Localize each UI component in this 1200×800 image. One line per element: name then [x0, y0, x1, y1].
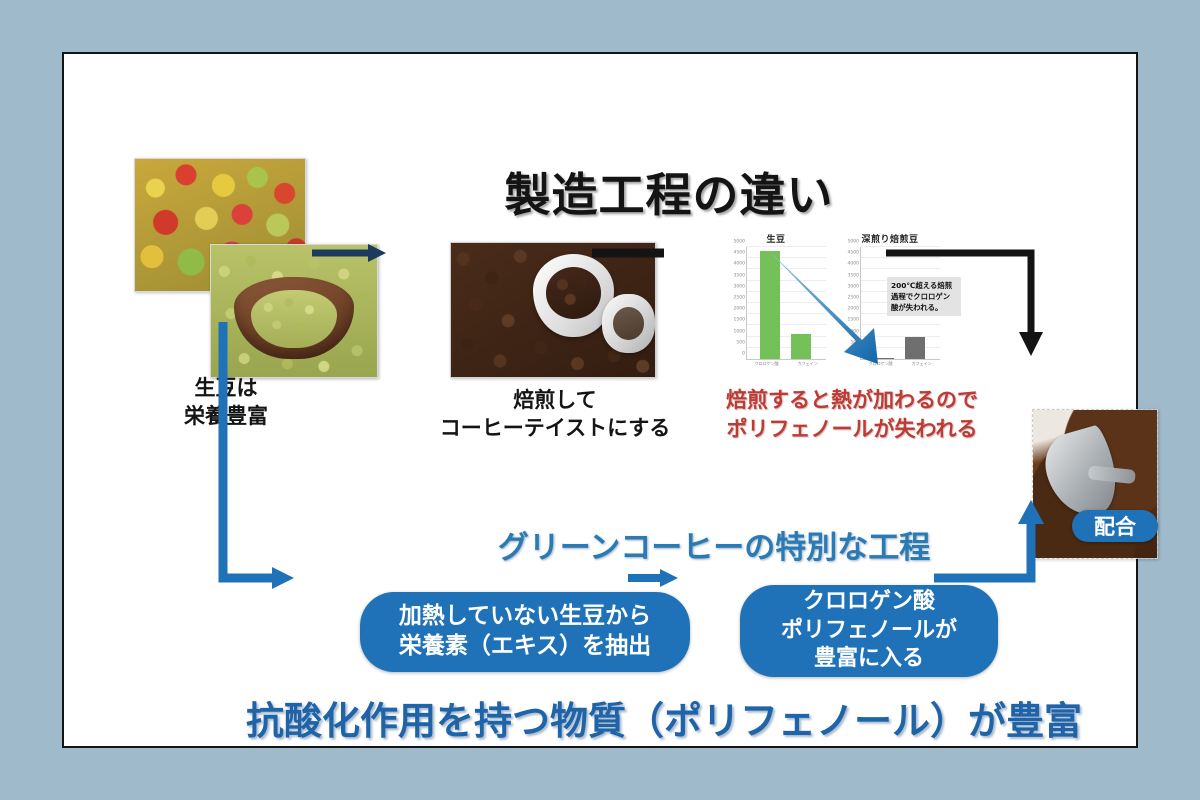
bar-caffeine — [905, 337, 925, 359]
caption-green-beans: 生豆は 栄養豊富 — [136, 374, 316, 431]
chart-green-beans: 生豆 5000 4500 4000 3500 3000 — [724, 232, 828, 380]
ytick: 0 — [856, 352, 859, 357]
subheading-special-process: グリーンコーヒーの特別な工程 — [404, 522, 1024, 567]
chart-legend-note: コーヒー豆100g当たりの含有量 — [885, 250, 934, 254]
bar-chlorogenic-acid — [874, 358, 894, 359]
slide-frame: 製造工程の違い 配合 生豆 — [62, 52, 1138, 748]
blend-badge: 配合 — [1072, 510, 1158, 542]
ytick: 2000 — [848, 307, 859, 312]
ytick: 500 — [850, 340, 859, 345]
ytick: 3500 — [734, 273, 745, 278]
caption-roasting: 焙煎して コーヒーテイストにする — [410, 386, 700, 443]
caption-polyphenol-loss: 焙煎すると熱が加わるので ポリフェノールが失われる — [694, 386, 1010, 445]
footer-conclusion: 抗酸化作用を持つ物質（ポリフェノール）が豊富 — [164, 690, 1164, 745]
process-step-extract: 加熱していない生豆から 栄養素（エキス）を抽出 — [360, 592, 690, 672]
roasted-beans-cups-photo — [450, 242, 656, 378]
process-step-rich-polyphenol: クロロゲン酸 ポリフェノールが 豊富に入る — [740, 585, 998, 677]
green-beans-image — [211, 245, 377, 377]
ytick: 1500 — [848, 318, 859, 323]
ytick: 4500 — [734, 251, 745, 256]
bar-chlorogenic-acid — [760, 251, 780, 359]
ytick: 1000 — [848, 329, 859, 334]
ytick: 4000 — [848, 262, 859, 267]
chart-data-label-7mg: 7mg — [863, 352, 872, 357]
ytick: 4500 — [848, 251, 859, 256]
ytick: 0 — [742, 352, 745, 357]
ytick: 1500 — [734, 318, 745, 323]
ytick: 5000 — [734, 240, 745, 245]
ytick: 2500 — [734, 296, 745, 301]
ytick: 3000 — [734, 284, 745, 289]
roasted-beans-image — [451, 243, 655, 377]
ytick: 500 — [736, 340, 745, 345]
chart-dark-roast-xlabels: クロロゲン酸 カフェイン — [860, 361, 942, 367]
ytick: 3000 — [848, 284, 859, 289]
xtick: カフェイン — [787, 361, 828, 367]
page-title: 製造工程の違い — [459, 159, 879, 225]
ytick: 3500 — [848, 273, 859, 278]
ytick: 1000 — [734, 329, 745, 334]
ytick: 2500 — [848, 296, 859, 301]
ytick: 4000 — [734, 262, 745, 267]
xtick: カフェイン — [901, 361, 942, 367]
chart-annotation-callout: 200℃超える焙煎 過程でクロロゲン 酸が失われる。 — [887, 277, 961, 316]
white-cup-small — [602, 294, 655, 353]
nutrient-comparison-charts: 生豆 5000 4500 4000 3500 3000 — [724, 232, 946, 380]
metal-scoop-shape — [1037, 423, 1125, 524]
hands-holding-green-beans-photo — [210, 244, 378, 378]
chart-dark-roast-plot: 5000 4500 4000 3500 3000 2500 2000 1500 … — [860, 247, 940, 360]
xtick: クロロゲン酸 — [746, 361, 787, 367]
chart-dark-roast: 深煎り焙煎豆 5000 4500 4000 3500 300 — [838, 232, 942, 380]
bar-caffeine — [791, 334, 811, 359]
chart-green-beans-xlabels: クロロゲン酸 カフェイン — [746, 361, 828, 367]
ytick: 5000 — [848, 240, 859, 245]
chart-green-beans-plot: 5000 4500 4000 3500 3000 2500 2000 1500 … — [746, 247, 826, 360]
xtick: クロロゲン酸 — [860, 361, 901, 367]
ytick: 2000 — [734, 307, 745, 312]
slide-canvas: 製造工程の違い 配合 生豆 — [0, 0, 1200, 800]
